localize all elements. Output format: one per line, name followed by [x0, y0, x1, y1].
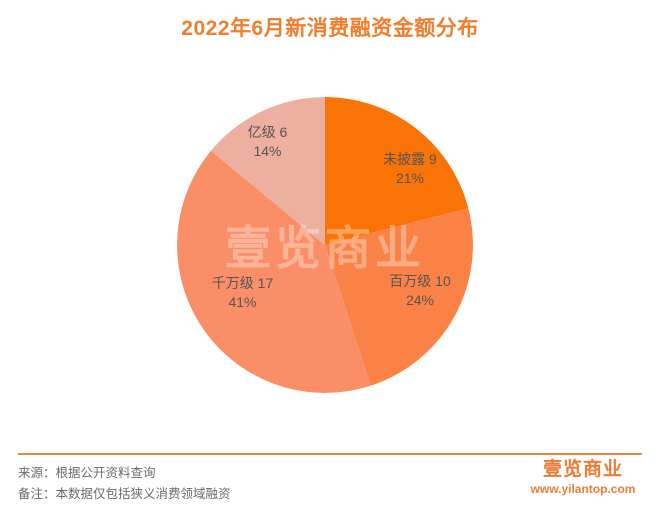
slice-label-million-percent: 24% [360, 291, 480, 310]
slice-label-hundred-million-name: 亿级 6 [215, 123, 320, 142]
footer-note: 备注：本数据仅包括狭义消费领域融资 [18, 484, 231, 505]
brand-name: 壹览商业 [522, 459, 644, 481]
slice-label-ten-million-percent: 41% [180, 293, 305, 312]
slice-label-hundred-million-percent: 14% [215, 142, 320, 161]
slice-label-million: 百万级 10 24% [360, 272, 480, 310]
slice-label-undisclosed: 未披露 9 21% [355, 150, 465, 188]
brand-logo: 壹览商业 www.yilantop.com [522, 459, 644, 497]
brand-url: www.yilantop.com [522, 481, 644, 497]
slice-label-hundred-million: 亿级 6 14% [215, 123, 320, 161]
footer-source: 来源：根据公开资料查询 [18, 463, 231, 484]
slice-label-undisclosed-percent: 21% [355, 169, 465, 188]
slice-label-ten-million-name: 千万级 17 [180, 274, 305, 293]
page-title: 2022年6月新消费融资金额分布 [0, 12, 660, 42]
slice-label-ten-million: 千万级 17 41% [180, 274, 305, 312]
slice-label-undisclosed-name: 未披露 9 [355, 150, 465, 169]
footer-divider [18, 453, 642, 455]
footer-notes: 来源：根据公开资料查询 备注：本数据仅包括狭义消费领域融资 [18, 463, 231, 505]
slice-label-million-name: 百万级 10 [360, 272, 480, 291]
